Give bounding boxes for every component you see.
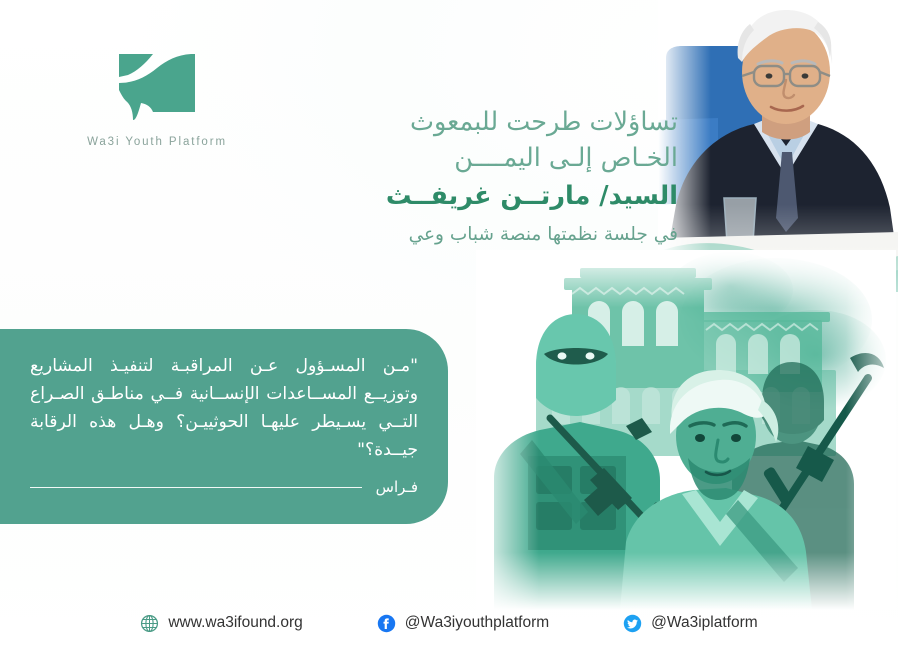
footer-website-link[interactable]: www.wa3ifound.org	[140, 614, 302, 633]
twitter-icon	[623, 614, 642, 633]
attribution-rule	[30, 487, 362, 488]
quote-author-name: فـراس	[376, 478, 418, 496]
footer-twitter-link[interactable]: @Wa3iplatform	[623, 614, 757, 633]
globe-icon	[140, 614, 159, 633]
wave-flag-logo-icon	[111, 50, 203, 122]
fighters-collage-image	[476, 250, 896, 610]
footer-twitter-label: @Wa3iplatform	[651, 614, 757, 632]
brand-wordmark: Wa3i Youth Platform	[82, 136, 232, 148]
headline-line-3-name: السيد/ مارتــن غريفــث	[278, 178, 678, 214]
footer-facebook-label: @Wa3iyouthplatform	[405, 614, 549, 632]
quote-text: "مـن المسـؤول عـن المراقبـة لتنفيـذ المش…	[30, 353, 418, 464]
quote-card: "مـن المسـؤول عـن المراقبـة لتنفيـذ المش…	[0, 329, 448, 524]
headline-subtitle: في جلسة نظمتها منصة شباب وعي	[278, 222, 678, 248]
footer-website-label: www.wa3ifound.org	[168, 614, 302, 632]
brand-logo-block: Wa3i Youth Platform	[82, 50, 232, 148]
quote-attribution: فـراس	[30, 478, 418, 496]
headline-block: تساؤلات طرحت للبمعوث الخـاص إلـى اليمـــ…	[278, 104, 678, 248]
headline-line-2: الخـاص إلـى اليمــــن	[278, 140, 678, 176]
poster-canvas: Wa3i Youth Platform	[0, 0, 898, 658]
footer-facebook-link[interactable]: @Wa3iyouthplatform	[377, 614, 549, 633]
speaker-portrait	[658, 0, 898, 292]
facebook-icon	[377, 614, 396, 633]
footer-bar: www.wa3ifound.org @Wa3iyouthplatform @Wa…	[0, 606, 898, 640]
headline-line-1: تساؤلات طرحت للبمعوث	[278, 104, 678, 140]
